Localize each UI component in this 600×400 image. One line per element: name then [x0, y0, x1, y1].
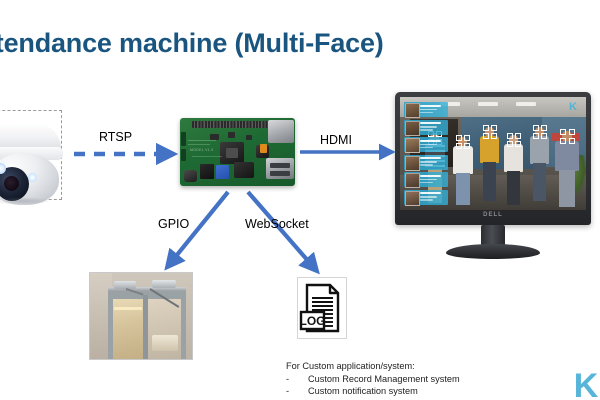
small-chip-2: [228, 132, 235, 138]
face-thumbnail: [405, 138, 420, 153]
blue-switch: [216, 165, 229, 179]
automatic-door-node[interactable]: [89, 272, 193, 360]
camera-node[interactable]: [0, 110, 62, 200]
camera-lens-inner: [4, 176, 19, 191]
recognition-card[interactable]: [404, 190, 448, 205]
note-bullet: -Custom Record Management system: [286, 373, 460, 386]
log-badge-text: LOG: [300, 314, 326, 328]
board-silkscreen: MODEL V1.0: [190, 148, 214, 152]
recognition-card-text: [420, 175, 441, 184]
ethernet-port: [268, 120, 294, 143]
pcb-trace-2: [188, 144, 210, 145]
connector-label-hdmi: HDMI: [320, 133, 352, 147]
connector-label-rtsp: RTSP: [99, 130, 132, 144]
monitor-stand-base: [446, 244, 540, 259]
face-thumbnail: [405, 121, 420, 136]
recognition-card[interactable]: [404, 155, 448, 170]
face-thumbnail: [405, 103, 420, 118]
ceiling-light-3: [516, 102, 536, 106]
recognition-card-text: [420, 105, 441, 114]
note-heading: For Custom application/system:: [286, 360, 460, 373]
detected-person: [452, 137, 474, 205]
slide-canvas: ttendance machine (Multi-Face) MODEL V1.…: [0, 0, 600, 400]
page-title: ttendance machine (Multi-Face): [0, 28, 546, 59]
detected-person: [504, 135, 524, 205]
screen-watermark-logo: K: [569, 101, 582, 114]
soc-chip: [220, 142, 244, 164]
recognition-results-panel[interactable]: [404, 102, 448, 207]
recognition-card[interactable]: [404, 120, 448, 135]
connector-label-gpio: GPIO: [158, 217, 189, 231]
monitor-brand-logo: DELL: [483, 212, 503, 218]
sbc-board-node[interactable]: MODEL V1.0: [180, 118, 295, 186]
recognition-card[interactable]: [404, 172, 448, 187]
black-connector: [200, 164, 214, 179]
ceiling-light-2: [478, 102, 498, 106]
connector-label-websocket: WebSocket: [245, 217, 309, 231]
recognition-card-text: [420, 192, 441, 201]
log-document-node[interactable]: LOG: [297, 277, 347, 339]
camera-shadow: [0, 197, 51, 205]
recognition-card[interactable]: [404, 102, 448, 117]
door-interior-light: [114, 307, 142, 310]
small-chip-3: [246, 135, 252, 140]
note-dash: -: [286, 373, 308, 386]
face-thumbnail: [405, 173, 420, 188]
brand-logo-icon: K: [566, 366, 600, 400]
note-bullet: -Custom notification system: [286, 385, 460, 398]
note-bullet-text: Custom Record Management system: [308, 374, 460, 384]
gpio-header: [192, 121, 268, 128]
door-opener-left: [114, 281, 136, 289]
pcb-trace-1: [188, 140, 216, 141]
door-mullion: [143, 295, 148, 360]
detected-person: [480, 127, 500, 201]
monitor-node[interactable]: K DELL: [395, 92, 591, 260]
note-dash: -: [286, 385, 308, 398]
face-thumbnail: [405, 191, 420, 206]
edge-connector-1: [181, 132, 186, 146]
camera-ir-led-right: [28, 173, 37, 182]
edge-connector-2: [181, 149, 186, 161]
orange-connector: [260, 144, 267, 153]
custom-application-note: For Custom application/system: -Custom R…: [286, 360, 460, 398]
door-interior-sofa: [152, 335, 178, 351]
face-thumbnail: [405, 156, 420, 171]
connector-websocket: [248, 192, 316, 270]
recognition-card[interactable]: [404, 137, 448, 152]
recognition-card-text: [420, 157, 441, 166]
usb-port: [266, 158, 294, 179]
door-opener-right: [152, 280, 176, 288]
power-jack: [184, 170, 197, 182]
detected-person: [554, 131, 580, 207]
detected-person: [530, 127, 550, 201]
monitor-screen: K: [400, 97, 586, 210]
monitor-bezel: K DELL: [395, 92, 591, 225]
pcb-trace-3: [192, 156, 222, 157]
recognition-card-text: [420, 140, 441, 149]
log-document-icon: LOG: [298, 278, 346, 338]
recognition-card-text: [420, 122, 441, 131]
ram-chip: [234, 162, 254, 178]
note-bullet-text: Custom notification system: [308, 386, 418, 396]
